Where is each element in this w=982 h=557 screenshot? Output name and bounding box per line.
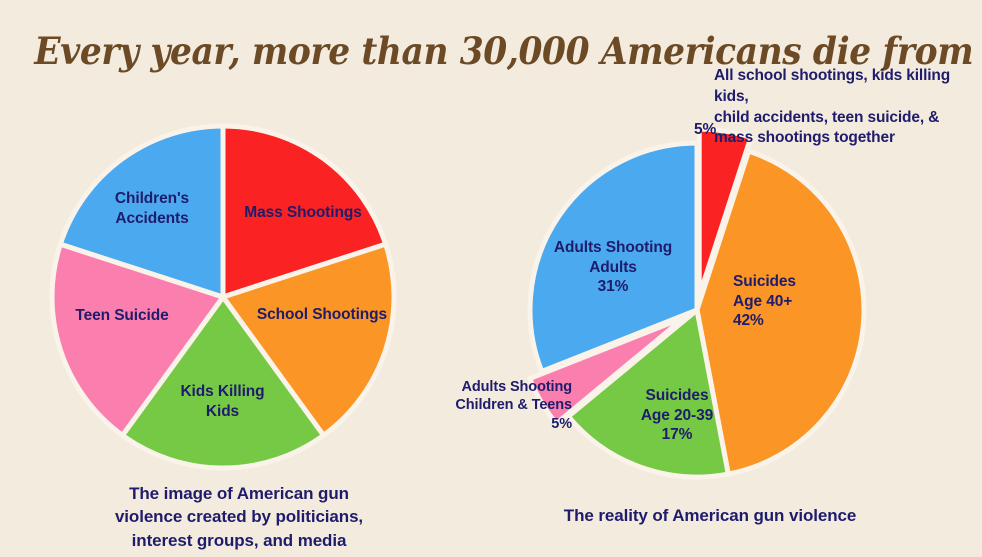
- left-slice-label-teen-suicide: Teen Suicide: [52, 306, 192, 326]
- infographic-poster: Every year, more than 30,000 Americans d…: [0, 0, 982, 557]
- left-slice-label-school-shootings: School Shootings: [242, 305, 402, 325]
- left-chart-caption: The image of American gun violence creat…: [74, 482, 404, 552]
- right-slice-label-suicides-40-plus: Suicides Age 40+ 42%: [733, 272, 861, 331]
- callout-annotation: All school shootings, kids killing kids,…: [714, 66, 982, 149]
- right-slice-label-adults-shooting-children: Adults Shooting Children & Teens 5%: [420, 378, 572, 433]
- right-chart-caption: The reality of American gun violence: [520, 504, 900, 527]
- left-slice-label-mass-shootings: Mass Shootings: [228, 203, 378, 223]
- right-slice-label-adults-shooting-adults: Adults Shooting Adults 31%: [530, 238, 696, 297]
- left-slice-label-kids-killing-kids: Kids Killing Kids: [150, 382, 295, 421]
- left-pie-chart: [30, 104, 420, 494]
- left-slice-label-childrens-accidents: Children's Accidents: [88, 189, 216, 228]
- right-slice-label-suicides-20-39: Suicides Age 20-39 17%: [612, 386, 742, 445]
